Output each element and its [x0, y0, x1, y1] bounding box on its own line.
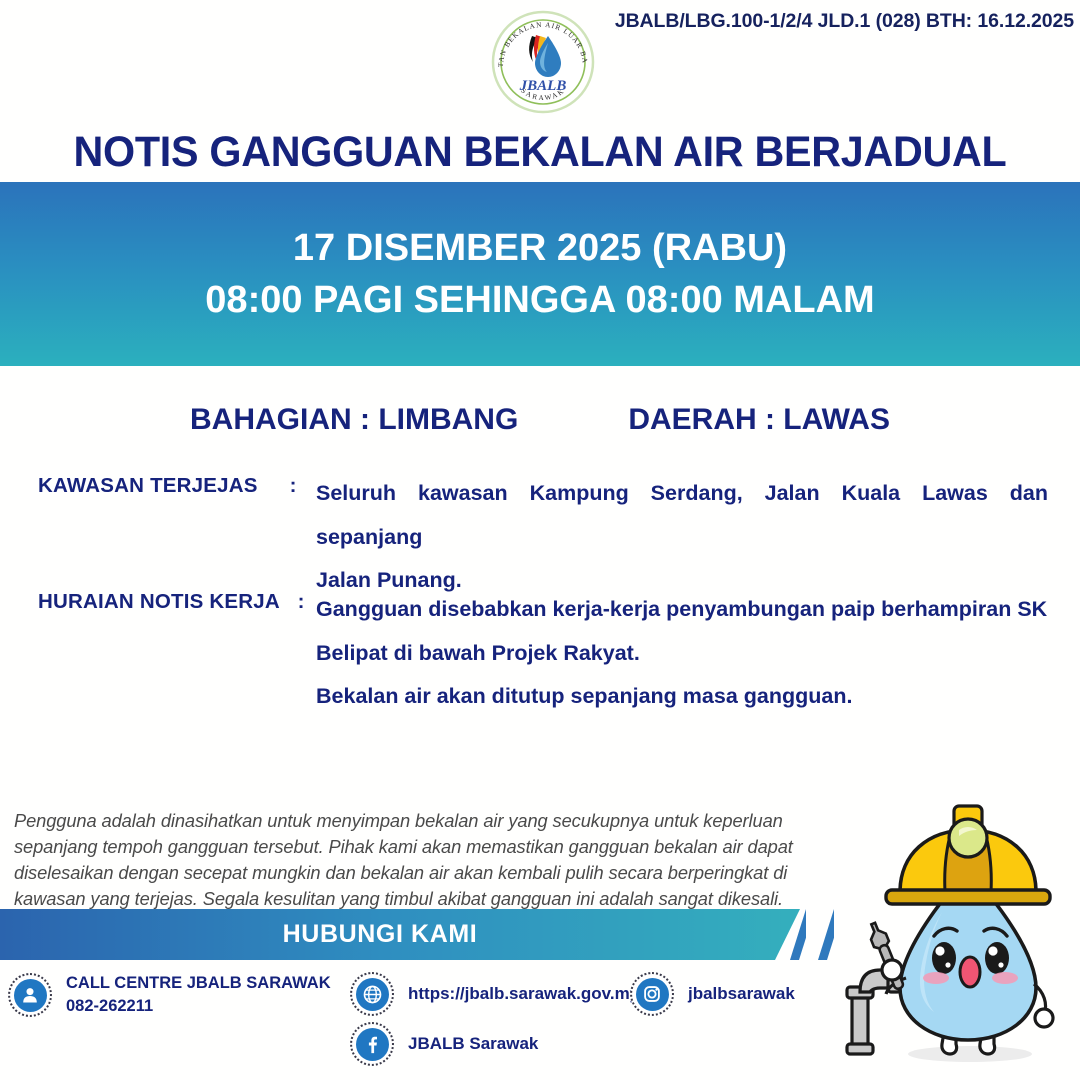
work-description-line-2: Belipat di bawah Projek Rakyat.	[316, 632, 1048, 676]
banner-date: 17 DISEMBER 2025 (RABU)	[293, 224, 787, 273]
person-icon	[8, 973, 52, 1017]
decorative-slash-icon	[818, 909, 834, 960]
work-description-block: HURAIAN NOTIS KERJA : Gangguan disebabka…	[38, 588, 1048, 719]
work-description-colon: :	[286, 588, 316, 614]
contact-banner-title: HUBUNGI KAMI	[0, 909, 760, 960]
work-description-text: Gangguan disebabkan kerja-kerja penyambu…	[316, 588, 1048, 719]
instagram-handle: jbalbsarawak	[688, 982, 795, 1006]
page-title: NOTIS GANGGUAN BEKALAN AIR BERJADUAL	[22, 128, 1059, 177]
disclaimer-text: Pengguna adalah dinasihatkan untuk menyi…	[14, 808, 804, 912]
contact-banner: HUBUNGI KAMI	[0, 909, 900, 960]
globe-icon	[350, 972, 394, 1016]
affected-area-colon: :	[270, 472, 316, 498]
date-time-banner: 17 DISEMBER 2025 (RABU) 08:00 PAGI SEHIN…	[0, 182, 1080, 366]
contact-call-centre[interactable]: CALL CENTRE JBALB SARAWAK 082-262211	[8, 972, 331, 1019]
call-centre-name: CALL CENTRE JBALB SARAWAK	[66, 972, 331, 995]
facebook-page: JBALB Sarawak	[408, 1032, 538, 1056]
website-url: https://jbalb.sarawak.gov.my/	[408, 982, 644, 1006]
banner-time: 08:00 PAGI SEHINGGA 08:00 MALAM	[205, 276, 874, 325]
contact-website[interactable]: https://jbalb.sarawak.gov.my/	[350, 972, 644, 1016]
daerah-label: DAERAH : LAWAS	[628, 403, 890, 437]
affected-area-block: KAWASAN TERJEJAS : Seluruh kawasan Kampu…	[38, 472, 1048, 603]
call-centre-number: 082-262211	[66, 995, 331, 1018]
affected-area-label: KAWASAN TERJEJAS	[38, 472, 270, 498]
contact-facebook[interactable]: JBALB Sarawak	[350, 1022, 538, 1066]
affected-area-text: Seluruh kawasan Kampung Serdang, Jalan K…	[316, 472, 1048, 603]
instagram-icon	[630, 972, 674, 1016]
facebook-icon	[350, 1022, 394, 1066]
jbalb-seal-logo: JABATAN BEKALAN AIR LUAR BANDAR SARAWAK …	[488, 10, 598, 115]
work-description-line-3: Bekalan air akan ditutup sepanjang masa …	[316, 675, 1048, 719]
reference-number: JBALB/LBG.100-1/2/4 JLD.1 (028) BTH: 16.…	[615, 10, 1074, 33]
location-row: BAHAGIAN : LIMBANG DAERAH : LAWAS	[0, 403, 1080, 437]
work-description-line-1: Gangguan disebabkan kerja-kerja penyambu…	[316, 588, 1048, 632]
call-centre-text: CALL CENTRE JBALB SARAWAK 082-262211	[66, 972, 331, 1019]
work-description-label: HURAIAN NOTIS KERJA	[38, 588, 286, 614]
notice-page: JBALB/LBG.100-1/2/4 JLD.1 (028) BTH: 16.…	[0, 0, 1080, 1080]
water-droplet-mascot	[838, 792, 1080, 1080]
contact-instagram[interactable]: jbalbsarawak	[630, 972, 795, 1016]
affected-area-line-1: Seluruh kawasan Kampung Serdang, Jalan K…	[316, 472, 1048, 559]
bahagian-label: BAHAGIAN : LIMBANG	[190, 403, 518, 437]
svg-text:JBALB: JBALB	[519, 78, 567, 94]
